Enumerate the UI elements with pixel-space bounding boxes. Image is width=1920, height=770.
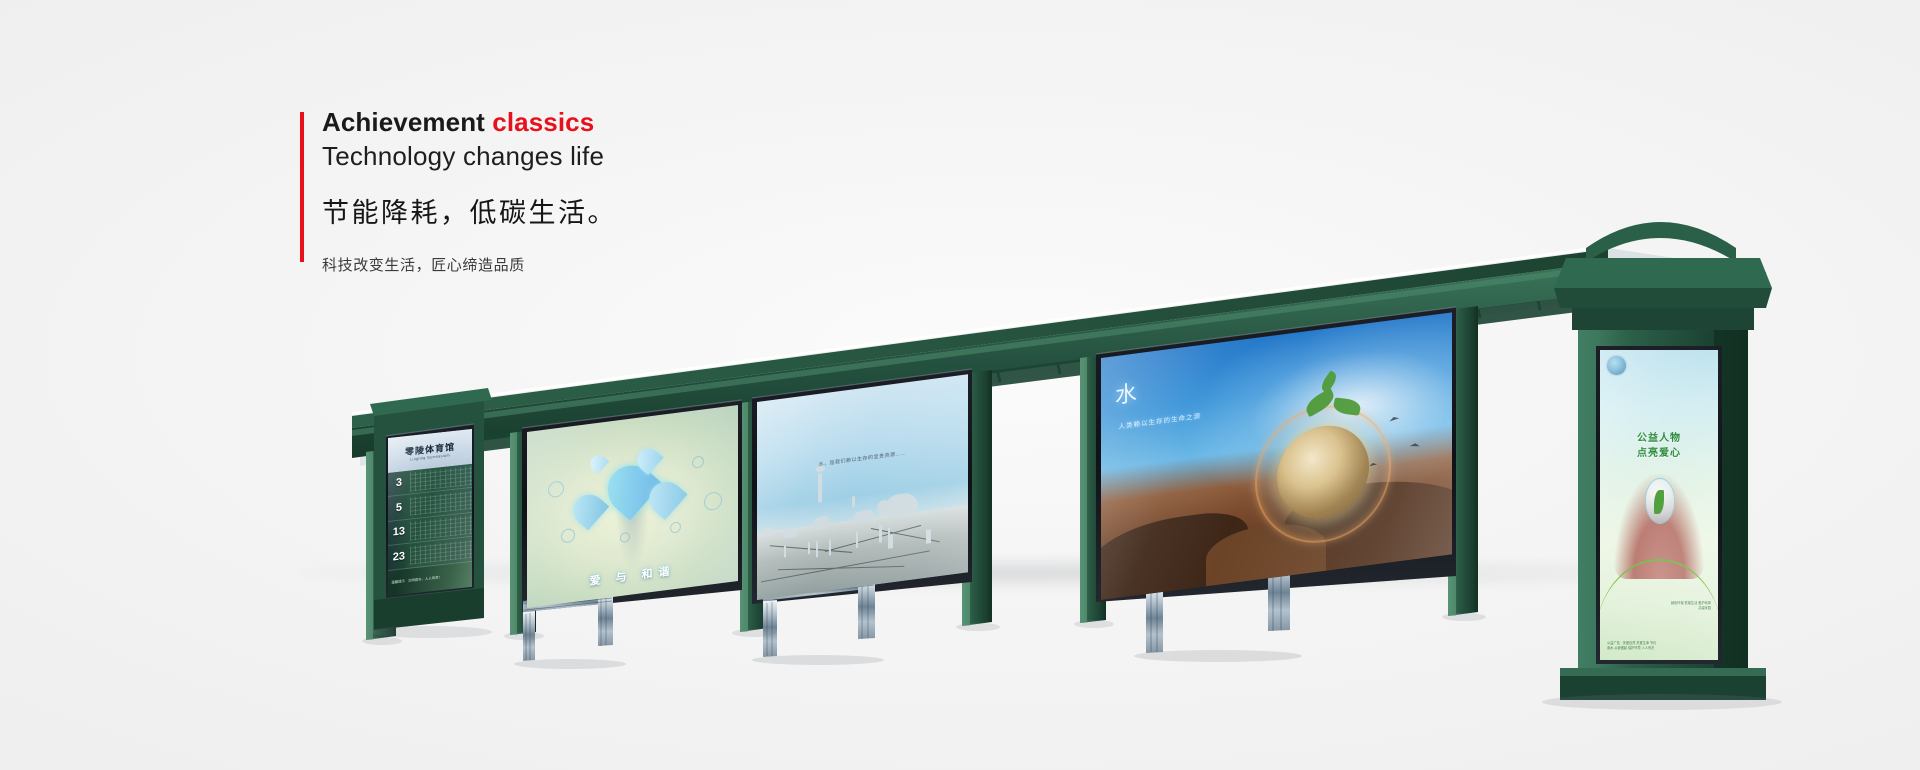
headline-line-1-main: Achievement (322, 107, 492, 137)
antelope-leg (784, 545, 786, 557)
headline-line-1: Achievement classics (322, 108, 920, 137)
poster-ngo-footer-right: 绿色环保 低碳生活 爱护地球 共建家园 (1671, 601, 1711, 611)
camel-leg (888, 527, 890, 543)
pillar-cap-arch (1586, 222, 1736, 262)
route-stops-strip (410, 491, 472, 516)
poster-ngo-footer-left: 公益广告 · 关爱自然 关爱生命 节约用水 从我做起 保护环境 人人有责 (1607, 641, 1657, 651)
ground-shadow (300, 556, 1730, 590)
heart-shape (567, 488, 609, 530)
panel-poster-water[interactable]: 水 人类赖以生存的生命之源 (1101, 312, 1452, 600)
headline-line-4: 科技改变生活，匠心缔造品质 (322, 254, 920, 275)
route-number: 3 (388, 476, 410, 490)
panel-poster-drought[interactable]: 水，是我们赖以生存的宝贵资源…… (757, 374, 968, 600)
schedule-rows: 3 5 13 23 (388, 464, 472, 571)
route-number: 5 (388, 501, 410, 515)
giraffe-leg (816, 540, 818, 556)
accent-rule (300, 112, 304, 262)
poster-drought-text: 水，是我们赖以生存的宝贵资源…… (757, 442, 968, 477)
poster-ngo-line-2: 点亮爱心 (1600, 446, 1718, 461)
bubble (692, 455, 704, 469)
elephant-trunk (879, 524, 882, 542)
schedule-enclosure-cap (370, 388, 492, 416)
schedule-footer-left: 温馨提示 (391, 579, 405, 585)
poster-water-title: 水 (1115, 375, 1137, 410)
elephant-leg (926, 530, 931, 545)
crack-line (761, 551, 930, 583)
route-stops-strip (410, 515, 472, 540)
product-render-canvas: Achievement classics Technology changes … (0, 0, 1920, 770)
route-stops-strip (410, 466, 472, 491)
panel-schedule-board[interactable]: 零陵体育馆 Lingling Gymnasium 3 5 13 23 温馨提示 (388, 429, 472, 596)
poster-ngo-text: 公益人物 点亮爱心 (1600, 431, 1718, 461)
roof-top-surface (352, 248, 1766, 437)
poster-ngo-line-1: 公益人物 (1600, 431, 1718, 446)
antelope-leg (808, 542, 810, 554)
bubble (548, 480, 564, 498)
route-stops-strip (410, 540, 472, 565)
headline-line-1-accent: classics (492, 107, 594, 137)
headline-block: Achievement classics Technology changes … (300, 108, 920, 275)
panel-poster-harmony[interactable]: 爱 与 和谐 (527, 405, 738, 608)
headline-lines: Achievement classics Technology changes … (322, 108, 920, 275)
camel-neck (852, 496, 855, 507)
bubble (704, 491, 722, 511)
panel-poster-ngo[interactable]: 公益人物 点亮爱心 公益广告 · 关爱自然 关爱生命 节约用水 从我做起 保护环… (1600, 350, 1718, 660)
route-number: 23 (388, 550, 410, 564)
headline-line-2: Technology changes life (322, 140, 920, 173)
bubble (561, 528, 575, 544)
heart-shape (587, 451, 610, 474)
route-number: 13 (388, 525, 410, 539)
organization-logo-icon (1607, 356, 1626, 375)
bubble (670, 521, 681, 533)
pillar-base (1560, 668, 1766, 700)
camel-leg (856, 531, 858, 547)
headline-line-3: 节能降耗，低碳生活。 (322, 191, 920, 230)
sprout-leaf (1318, 371, 1339, 394)
poster-water-subtitle: 人类赖以生存的生命之源 (1119, 410, 1202, 431)
schedule-footer-right: 文明乘车，人人有责！ (408, 575, 442, 583)
giraffe-silhouette (818, 473, 822, 504)
giraffe-leg (829, 539, 831, 555)
pillar-cap-cornice (1554, 258, 1772, 288)
bird-silhouette (1410, 443, 1420, 446)
bird-silhouette (1389, 415, 1399, 421)
